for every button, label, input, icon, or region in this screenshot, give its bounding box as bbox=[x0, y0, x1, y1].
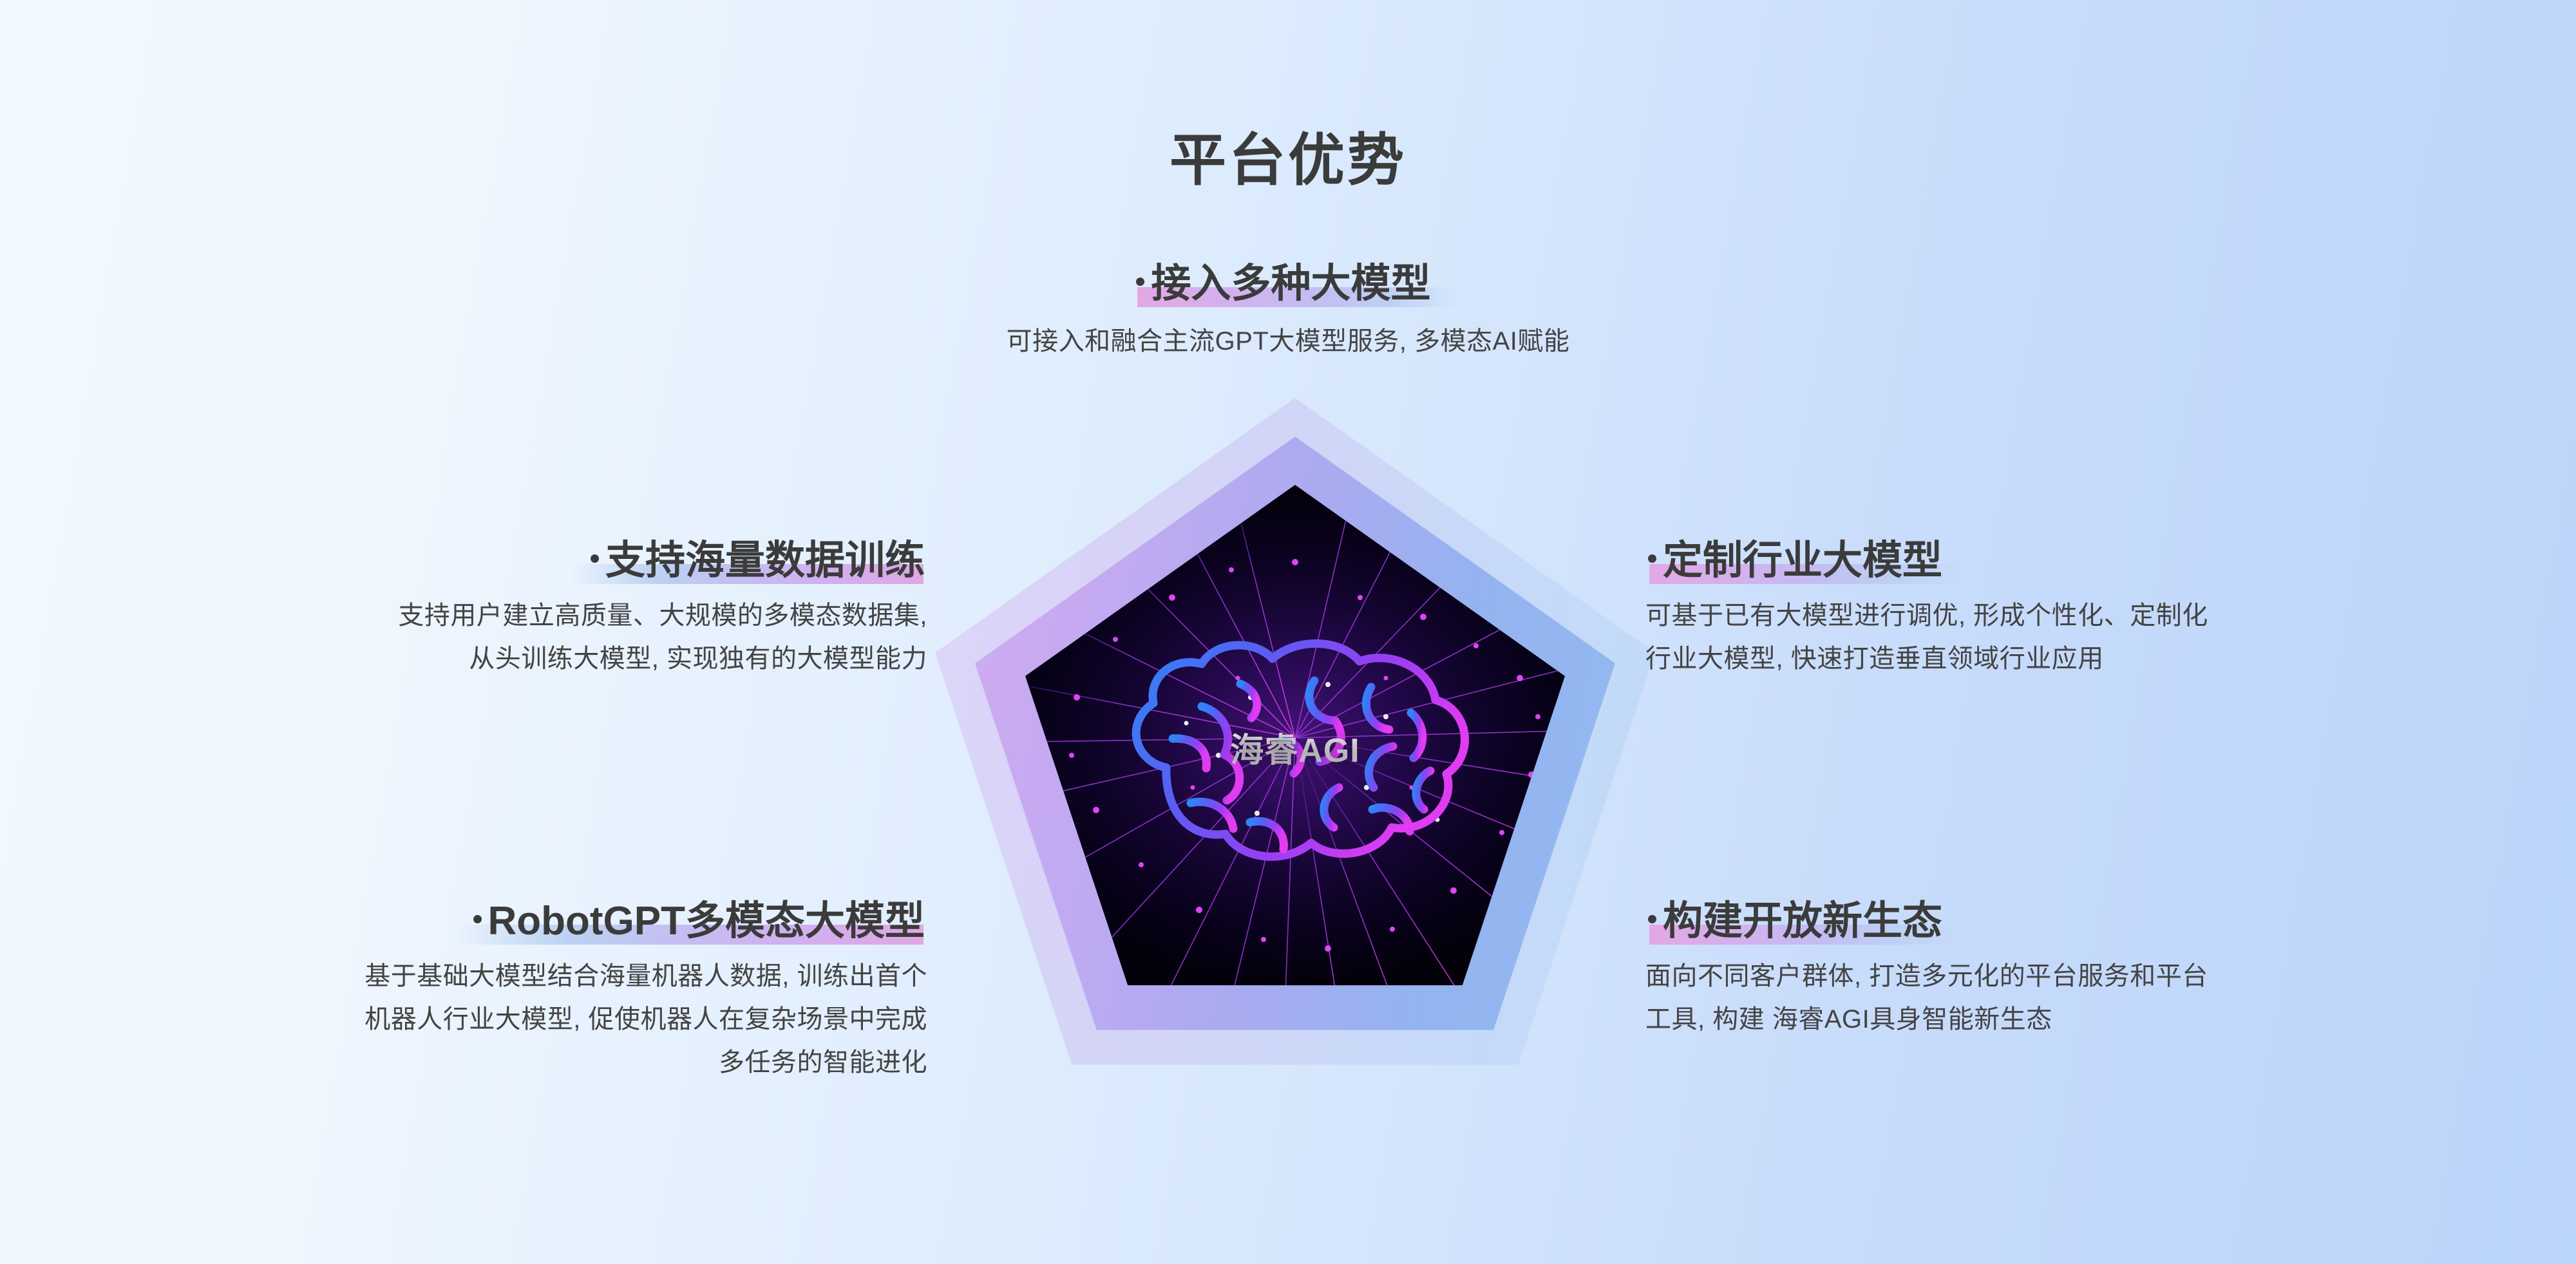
feature-heading-massive-data-training: 支持海量数据训练 bbox=[588, 540, 927, 585]
desc-line: 从头训练大模型, 实现独有的大模型能力 bbox=[398, 637, 927, 681]
feature-robotgpt-multimodal[interactable]: RobotGPT多模态大模型 基于基础大模型结合海量机器人数据, 训练出首个 机… bbox=[365, 900, 927, 1085]
desc-line: 工具, 构建 海睿AGI具身智能新生态 bbox=[1645, 998, 2208, 1041]
desc-line: 可基于已有大模型进行调优, 形成个性化、定制化 bbox=[1645, 594, 2208, 637]
central-pentagon-graphic: 海睿AGI bbox=[935, 398, 1655, 1100]
center-brand-label: 海睿AGI bbox=[1025, 723, 1565, 771]
desc-line: 多任务的智能进化 bbox=[365, 1041, 927, 1084]
feature-massive-data-training[interactable]: 支持海量数据训练 支持用户建立高质量、大规模的多模态数据集, 从头训练大模型, … bbox=[398, 540, 927, 681]
feature-desc-robotgpt-multimodal: 基于基础大模型结合海量机器人数据, 训练出首个 机器人行业大模型, 促使机器人在… bbox=[365, 955, 927, 1085]
desc-line: 可接入和融合主流GPT大模型服务, 多模态AI赋能 bbox=[0, 320, 2576, 363]
feature-open-ecosystem[interactable]: 构建开放新生态 面向不同客户群体, 打造多元化的平台服务和平台 工具, 构建 海… bbox=[1645, 900, 2208, 1041]
desc-line: 机器人行业大模型, 促使机器人在复杂场景中完成 bbox=[365, 998, 927, 1041]
desc-line: 行业大模型, 快速打造垂直领域行业应用 bbox=[1645, 637, 2208, 681]
feature-heading-multi-model-access: 接入多种大模型 bbox=[1133, 263, 1442, 308]
feature-heading-custom-industry-model: 定制行业大模型 bbox=[1645, 540, 1945, 585]
bullet-dot-icon bbox=[473, 915, 482, 923]
page-title: 平台优势 bbox=[0, 115, 2576, 196]
bullet-dot-icon bbox=[1136, 278, 1144, 286]
bullet-dot-icon bbox=[1648, 554, 1656, 563]
bullet-dot-icon bbox=[591, 554, 599, 563]
feature-desc-custom-industry-model: 可基于已有大模型进行调优, 形成个性化、定制化 行业大模型, 快速打造垂直领域行… bbox=[1645, 594, 2208, 681]
desc-line: 基于基础大模型结合海量机器人数据, 训练出首个 bbox=[365, 955, 927, 998]
desc-line: 支持用户建立高质量、大规模的多模态数据集, bbox=[398, 594, 927, 637]
feature-desc-multi-model-access: 可接入和融合主流GPT大模型服务, 多模态AI赋能 bbox=[0, 320, 2576, 363]
feature-desc-open-ecosystem: 面向不同客户群体, 打造多元化的平台服务和平台 工具, 构建 海睿AGI具身智能… bbox=[1645, 955, 2208, 1041]
feature-heading-robotgpt-multimodal: RobotGPT多模态大模型 bbox=[471, 900, 928, 946]
feature-multi-model-access[interactable]: 接入多种大模型 可接入和融合主流GPT大模型服务, 多模态AI赋能 bbox=[0, 263, 2576, 363]
feature-heading-open-ecosystem: 构建开放新生态 bbox=[1645, 900, 1945, 946]
desc-line: 面向不同客户群体, 打造多元化的平台服务和平台 bbox=[1645, 955, 2208, 998]
bullet-dot-icon bbox=[1648, 915, 1656, 923]
feature-custom-industry-model[interactable]: 定制行业大模型 可基于已有大模型进行调优, 形成个性化、定制化 行业大模型, 快… bbox=[1645, 540, 2208, 681]
feature-desc-massive-data-training: 支持用户建立高质量、大规模的多模态数据集, 从头训练大模型, 实现独有的大模型能… bbox=[398, 594, 927, 681]
